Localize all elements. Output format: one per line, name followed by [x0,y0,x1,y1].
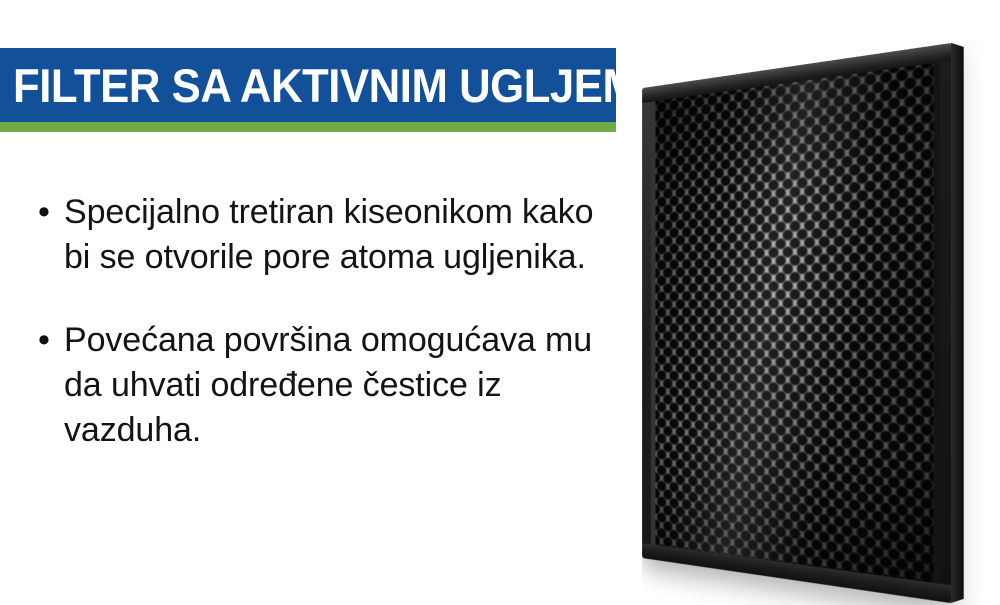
title-banner: FILTER SA AKTIVNIM UGLJEM [0,48,616,122]
bullet-dot-icon: • [38,190,64,235]
activated-carbon-filter-photo [620,70,980,580]
slide-canvas: FILTER SA AKTIVNIM UGLJEM • Specijalno t… [0,0,1000,600]
filter-side-edge [951,43,964,603]
bullet-list: • Specijalno tretiran kiseonikom kako bi… [38,190,618,453]
filter-bottom-bevel [642,543,952,603]
honeycomb-cells [655,62,933,584]
list-item: • Povećana površina omogućava mu da uhva… [38,318,618,453]
bullet-text: Specijalno tretiran kiseonikom kako bi s… [64,190,618,280]
filter-top-bevel [642,43,952,103]
title-accent-rule [0,122,616,132]
bullet-text: Povećana površina omogućava mu da uhvati… [64,318,618,453]
honeycomb-mesh [655,62,933,584]
bullet-dot-icon: • [38,318,64,363]
mesh-shading-overlay [655,62,933,584]
page-title: FILTER SA AKTIVNIM UGLJEM [0,62,638,109]
list-item: • Specijalno tretiran kiseonikom kako bi… [38,190,618,280]
filter-inner-bevel [651,55,940,591]
filter-frame [642,43,952,604]
filter-panel [642,43,952,604]
